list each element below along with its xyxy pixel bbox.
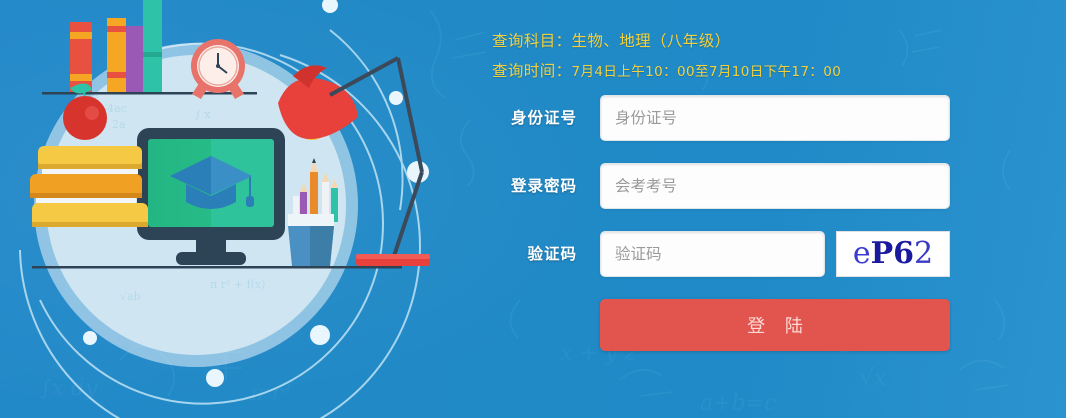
password-field[interactable] xyxy=(600,163,950,209)
stacked-books xyxy=(30,146,148,227)
svg-text:∫ x: ∫ x xyxy=(195,108,211,121)
captcha-char-1: e xyxy=(853,236,871,271)
captcha-char-4: 2 xyxy=(914,236,933,271)
id-number-field[interactable] xyxy=(600,95,950,141)
captcha-char-3: 6 xyxy=(893,236,914,271)
id-number-input[interactable] xyxy=(601,96,949,140)
submit-row: 登 陆 xyxy=(470,299,1066,351)
query-time-value: 7月4日上午10：00至7月10日下午17：00 xyxy=(572,64,842,80)
id-number-label: 身份证号 xyxy=(470,95,577,141)
captcha-char-2: P xyxy=(871,236,894,271)
id-number-row: 身份证号 xyxy=(470,95,1066,141)
alarm-clock xyxy=(191,39,245,99)
captcha-image-text: eP62 xyxy=(853,239,933,269)
captcha-image[interactable]: eP62 xyxy=(836,231,950,277)
login-panel: 查询科目：生物、地理（八年级） 查询时间：7月4日上午10：00至7月10日下午… xyxy=(470,0,1066,418)
password-input[interactable] xyxy=(601,164,949,208)
login-page: ∫x dy π r² a+b=c √x x + y z xyxy=(0,0,1066,418)
education-desk-illustration: b²-4ac 2a a = ∫ x π r² + f(x) √ab xyxy=(0,0,430,418)
query-time-line: 查询时间：7月4日上午10：00至7月10日下午17：00 xyxy=(492,56,841,87)
captcha-row: 验证码 eP62 xyxy=(470,231,1066,277)
query-time-prefix: 查询时间： xyxy=(492,62,572,80)
query-info-header: 查询科目：生物、地理（八年级） 查询时间：7月4日上午10：00至7月10日下午… xyxy=(492,26,841,87)
login-button[interactable]: 登 陆 xyxy=(600,299,950,351)
svg-text:π r² + f(x): π r² + f(x) xyxy=(210,278,265,291)
query-subject-line: 查询科目：生物、地理（八年级） xyxy=(492,26,841,56)
standing-books xyxy=(70,0,162,92)
captcha-input[interactable] xyxy=(601,232,824,276)
svg-text:√ab: √ab xyxy=(120,290,141,303)
password-row: 登录密码 xyxy=(470,163,1066,209)
captcha-label: 验证码 xyxy=(470,231,577,277)
captcha-field[interactable] xyxy=(600,231,825,277)
password-label: 登录密码 xyxy=(470,163,577,209)
svg-text:2a: 2a xyxy=(112,118,126,131)
login-form: 身份证号 登录密码 验证码 eP62 xyxy=(470,95,1066,351)
